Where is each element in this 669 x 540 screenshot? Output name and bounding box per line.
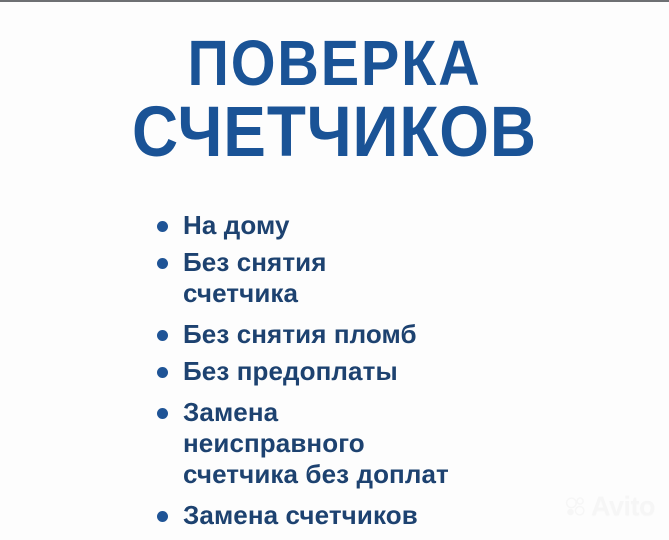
- avito-watermark-text: Avito: [591, 493, 655, 520]
- list-item: Без снятия счетчика: [155, 247, 575, 309]
- headline-line-1: ПОВЕРКА: [33, 28, 635, 98]
- list-item-label: На дому: [183, 210, 575, 241]
- list-item: Без предоплаты: [155, 356, 575, 387]
- poster-canvas: ПОВЕРКА СЧЕТЧИКОВ На дому Без снятия сче…: [0, 0, 669, 540]
- bullet-dot-icon: [157, 330, 168, 341]
- list-item-label: Без снятия счетчика: [183, 247, 575, 309]
- page-title: ПОВЕРКА СЧЕТЧИКОВ: [33, 28, 635, 168]
- list-item-label: Без снятия пломб: [183, 319, 575, 350]
- bullet-dot-icon: [157, 221, 168, 232]
- list-item-label: Без предоплаты: [183, 356, 575, 387]
- list-item: Без снятия пломб: [155, 319, 575, 350]
- headline-line-2: СЧЕТЧИКОВ: [33, 98, 635, 168]
- bullet-dot-icon: [157, 367, 168, 378]
- list-item: Замена счетчиков: [155, 500, 575, 531]
- avito-watermark: Avito: [565, 493, 655, 520]
- bullet-dot-icon: [157, 511, 168, 522]
- list-item-label: Замена неисправного счетчика без доплат: [183, 397, 575, 490]
- list-item: На дому: [155, 210, 575, 241]
- top-edge-line: [0, 0, 669, 2]
- list-item-label: Замена счетчиков: [183, 500, 575, 531]
- list-item: Замена неисправного счетчика без доплат: [155, 397, 575, 490]
- bullet-dot-icon: [157, 408, 168, 419]
- bullet-dot-icon: [157, 258, 168, 269]
- service-list: На дому Без снятия счетчика Без снятия п…: [155, 210, 575, 531]
